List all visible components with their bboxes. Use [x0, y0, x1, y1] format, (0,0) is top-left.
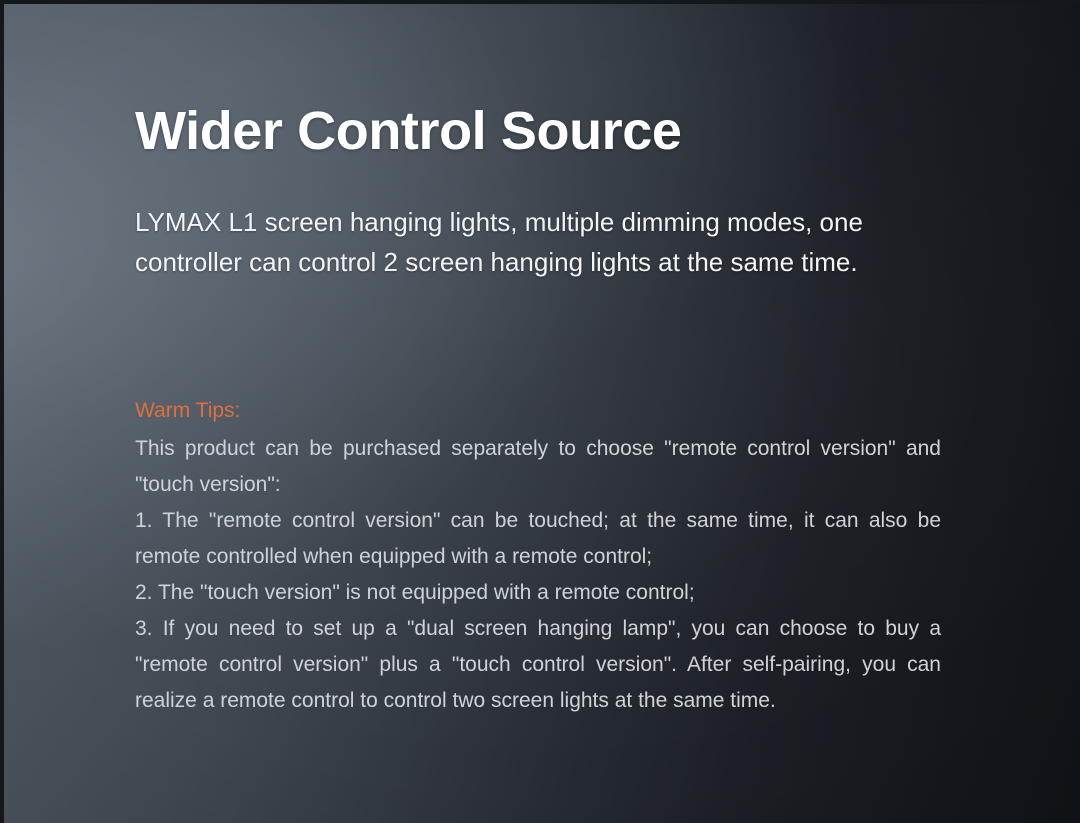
warm-tips-heading: Warm Tips:	[135, 397, 941, 425]
warm-tips-item-2: 2. The "touch version" is not equipped w…	[135, 575, 941, 611]
warm-tips-body: This product can be purchased separately…	[135, 431, 941, 719]
promo-slide: Wider Control Source LYMAX L1 screen han…	[0, 0, 1080, 823]
warm-tips-block: Warm Tips: This product can be purchased…	[135, 397, 941, 719]
warm-tips-item-1: 1. The "remote control version" can be t…	[135, 503, 941, 575]
subtitle-paragraph: LYMAX L1 screen hanging lights, multiple…	[135, 202, 941, 282]
warm-tips-intro: This product can be purchased separately…	[135, 431, 941, 503]
warm-tips-item-3: 3. If you need to set up a "dual screen …	[135, 611, 941, 719]
page-title: Wider Control Source	[135, 103, 682, 160]
